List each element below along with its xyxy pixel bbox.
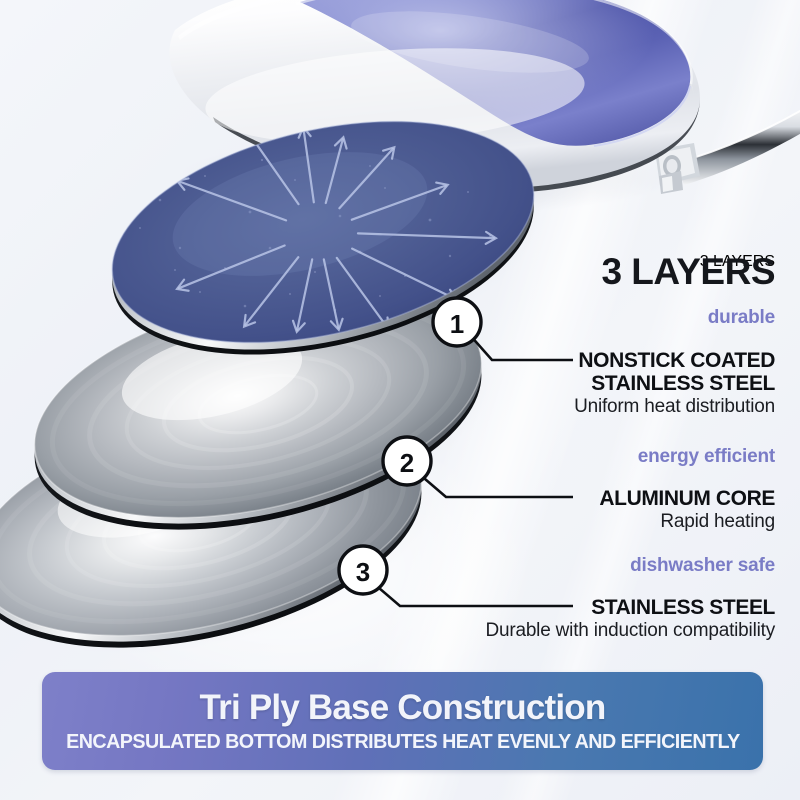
infographic-canvas: 1 2 3 3 LAYERS 3 LAYERS durable NONSTICK…: [0, 0, 800, 800]
svg-text:3: 3: [356, 557, 370, 587]
leader-line-3: [372, 582, 573, 606]
callout-badge-2: 2: [383, 437, 431, 485]
layer-3-accent: dishwasher safe: [630, 556, 775, 575]
banner-subtitle: ENCAPSULATED BOTTOM DISTRIBUTES HEAT EVE…: [66, 732, 740, 752]
layer-2-subtitle: Rapid heating: [660, 511, 775, 533]
svg-text:2: 2: [400, 448, 414, 478]
layer-1-title-line2: STAINLESS STEEL: [591, 372, 775, 396]
layer-1-title-line1: NONSTICK COATED: [578, 349, 775, 373]
svg-text:1: 1: [450, 309, 464, 339]
leader-line-2: [418, 473, 573, 497]
layers-heading: 3 LAYERS: [601, 253, 775, 290]
leader-line-1: [469, 334, 573, 360]
banner-title: Tri Ply Base Construction: [200, 690, 606, 725]
layer-3-subtitle: Durable with induction compatibility: [485, 620, 775, 642]
layer-2-accent: energy efficient: [638, 447, 775, 466]
layer-2-title-line1: ALUMINUM CORE: [599, 487, 775, 511]
callout-badge-3: 3: [339, 546, 387, 594]
layer-3-title-line1: STAINLESS STEEL: [591, 596, 775, 620]
layer-1-accent: durable: [708, 308, 775, 327]
bottom-banner: Tri Ply Base Construction ENCAPSULATED B…: [42, 672, 763, 770]
callout-badge-1: 1: [433, 298, 481, 346]
layer-1-subtitle: Uniform heat distribution: [574, 396, 775, 418]
